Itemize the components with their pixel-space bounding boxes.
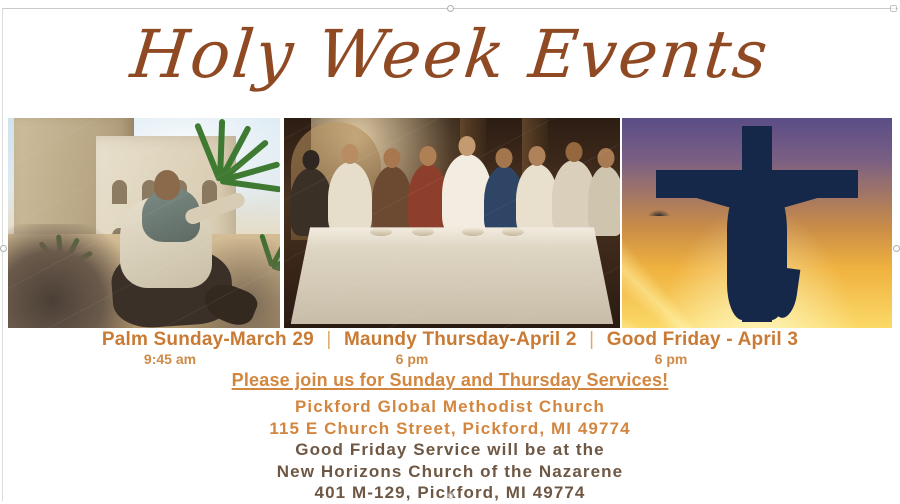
disciple-figure xyxy=(372,166,412,236)
supper-table xyxy=(291,227,614,324)
disciple-figure xyxy=(588,166,620,236)
event-label-maundy-thursday: Maundy Thursday-April 2 xyxy=(344,329,577,350)
invitation-text: Please join us for Sunday and Thursday S… xyxy=(0,370,900,391)
resize-handle-top-center[interactable] xyxy=(447,5,454,12)
event-separator: | xyxy=(319,329,338,350)
event-time-maundy-thursday: 6 pm xyxy=(396,351,429,367)
bird-icon xyxy=(648,210,670,216)
event-label-good-friday: Good Friday - April 3 xyxy=(607,329,798,350)
dish xyxy=(370,228,392,236)
figure-head xyxy=(742,186,772,218)
resize-handle-right-middle[interactable] xyxy=(893,245,900,252)
address-line-good-friday-note: Good Friday Service will be at the xyxy=(0,439,900,461)
dish xyxy=(462,228,484,236)
page-title: Holy Week Events xyxy=(0,22,900,88)
event-time-palm-sunday: 9:45 am xyxy=(144,351,196,367)
image-strip xyxy=(0,118,900,328)
resize-handle-left-middle[interactable] xyxy=(0,245,7,252)
disciple-figure xyxy=(290,168,332,236)
palm-sunday-image xyxy=(8,118,280,328)
dish xyxy=(412,228,434,236)
last-supper-image xyxy=(284,118,620,328)
crucifixion-image xyxy=(622,118,892,328)
address-line-church-name: Pickford Global Methodist Church xyxy=(0,396,900,418)
event-time-good-friday: 6 pm xyxy=(655,351,688,367)
resize-handle-bottom-center[interactable] xyxy=(447,492,454,499)
event-label-palm-sunday: Palm Sunday-March 29 xyxy=(102,329,314,350)
slide-canvas[interactable]: Holy Week Events xyxy=(0,0,900,503)
event-times-row: 9:45 am 6 pm 6 pm xyxy=(0,351,900,369)
disciple-figure xyxy=(328,162,372,236)
event-titles-row: Palm Sunday-March 29 | Maundy Thursday-A… xyxy=(0,329,900,351)
address-line-alt-church-name: New Horizons Church of the Nazarene xyxy=(0,461,900,483)
event-separator: | xyxy=(582,329,601,350)
address-line-church-street: 115 E Church Street, Pickford, MI 49774 xyxy=(0,418,900,440)
resize-handle-top-right[interactable] xyxy=(890,5,897,12)
jesus-head xyxy=(154,170,180,200)
address-block: Pickford Global Methodist Church 115 E C… xyxy=(0,396,900,504)
dish xyxy=(502,228,524,236)
